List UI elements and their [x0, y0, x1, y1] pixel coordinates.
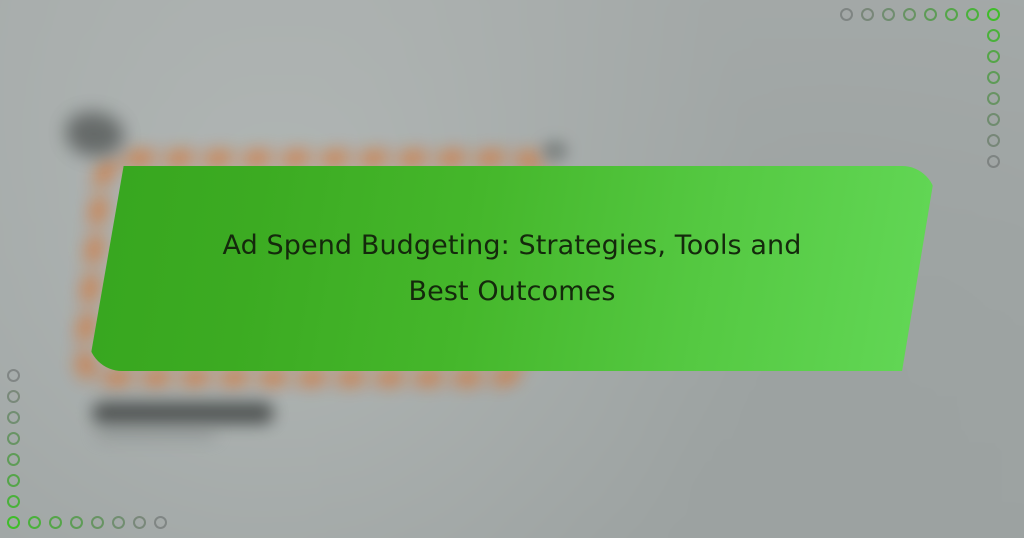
banner-content: Ad Spend Budgeting: Strategies, Tools an…	[88, 166, 936, 371]
page-title-line-2: Best Outcomes	[182, 269, 842, 315]
small-dot-blob-icon	[542, 140, 568, 162]
page-title-line-1: Ad Spend Budgeting: Strategies, Tools an…	[182, 223, 842, 269]
heading-bar	[92, 402, 274, 424]
subheading-bar	[96, 428, 216, 438]
page-title: Ad Spend Budgeting: Strategies, Tools an…	[182, 223, 842, 315]
screenshot-stage: Ad Spend Budgeting: Strategies, Tools an…	[0, 0, 1024, 538]
avatar-blob-icon	[66, 112, 124, 156]
